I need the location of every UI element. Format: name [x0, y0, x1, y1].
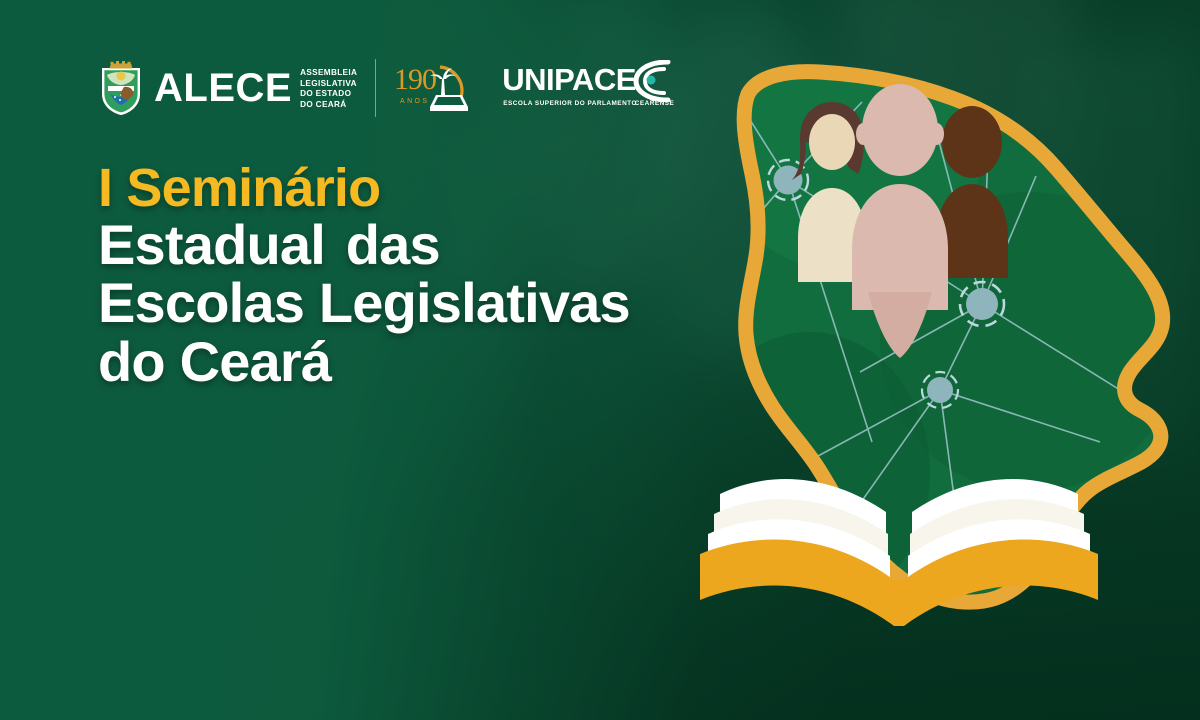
alece-subtitle-line-1: ASSEMBLEIA — [300, 68, 357, 77]
alece-wordmark-group: ALECE ASSEMBLEIA LEGISLATIVA DO ESTADO D… — [154, 66, 357, 110]
svg-text:ANOS: ANOS — [400, 98, 429, 105]
alece-subtitle-line-3: DO ESTADO — [300, 89, 351, 98]
assembly-building-icon — [430, 95, 468, 111]
title-line-2: Estadual das — [98, 216, 738, 274]
logo-bar: ALECE ASSEMBLEIA LEGISLATIVA DO ESTADO D… — [98, 52, 674, 124]
alece-subtitle: ASSEMBLEIA LEGISLATIVA DO ESTADO DO CEAR… — [300, 66, 357, 110]
title-line-3: Escolas Legislativas — [98, 274, 738, 332]
svg-text:190: 190 — [394, 63, 436, 96]
unipace-logo: UNIPACE ESCOLA SUPERIOR DO PARLAMENTO CE… — [502, 62, 674, 114]
alece-subtitle-line-2: LEGISLATIVA — [300, 79, 357, 88]
anniversary-190-logo: 190 ANOS — [394, 59, 472, 117]
unipace-swoosh-icon — [614, 60, 676, 102]
title-highlight-estadual: Estadual — [92, 216, 331, 274]
title-line-2-rest: das — [331, 213, 440, 276]
ceara-coat-of-arms-icon — [98, 60, 144, 116]
alece-subtitle-line-4: DO CEARÁ — [300, 100, 346, 109]
unipace-subtitle-left: ESCOLA SUPERIOR DO PARLAMENTO — [503, 100, 637, 107]
title-line-1: I Seminário — [98, 160, 738, 216]
logo-divider — [375, 59, 376, 117]
illustration-group — [700, 42, 1200, 622]
event-title: I Seminário Estadual das Escolas Legisla… — [98, 160, 738, 391]
unipace-subtitle-right: CEARENSE — [635, 100, 675, 107]
title-line-4: do Ceará — [98, 333, 738, 391]
event-banner: ALECE ASSEMBLEIA LEGISLATIVA DO ESTADO D… — [0, 0, 1200, 720]
alece-wordmark: ALECE — [154, 68, 292, 108]
